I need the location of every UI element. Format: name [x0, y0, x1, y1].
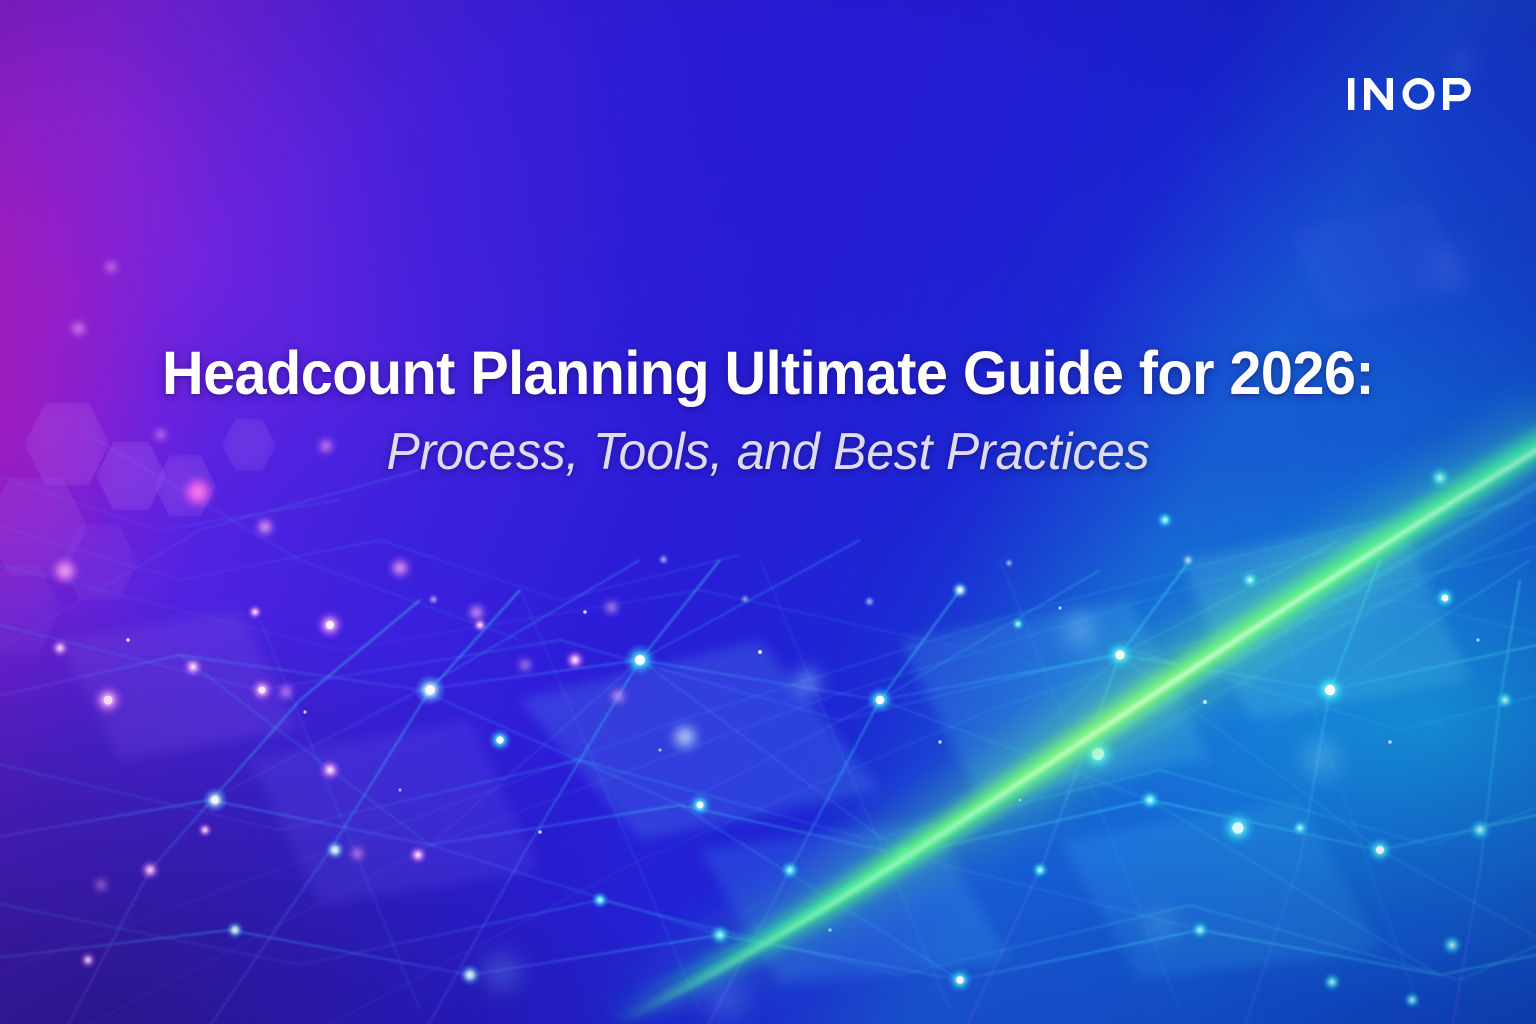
hero-text-block: Headcount Planning Ultimate Guide for 20… — [0, 338, 1536, 482]
background-bottom-left-shade — [0, 0, 1536, 1024]
page-subtitle: Process, Tools, and Best Practices — [31, 422, 1506, 482]
bokeh-particles — [0, 0, 1536, 1024]
inop-logo[interactable] — [1348, 76, 1472, 112]
background-magenta-bloom — [0, 0, 1536, 1024]
green-cyan-light-arc — [0, 0, 1536, 1024]
network-constellation-mesh — [0, 0, 1536, 1024]
background-indigo-core — [0, 0, 1536, 1024]
page-title: Headcount Planning Ultimate Guide for 20… — [42, 338, 1494, 408]
background-base-gradient — [0, 0, 1536, 1024]
background-vignette — [0, 0, 1536, 1024]
background-film-grain — [0, 0, 1536, 1024]
background-purple-haze — [0, 0, 1536, 1024]
inop-wordmark-logo — [1348, 76, 1472, 112]
hero-banner: Headcount Planning Ultimate Guide for 20… — [0, 0, 1536, 1024]
background-teal-sweep — [0, 0, 1536, 1024]
background-cyan-bloom — [0, 0, 1536, 1024]
background-royal-blue-glow — [0, 0, 1536, 1024]
